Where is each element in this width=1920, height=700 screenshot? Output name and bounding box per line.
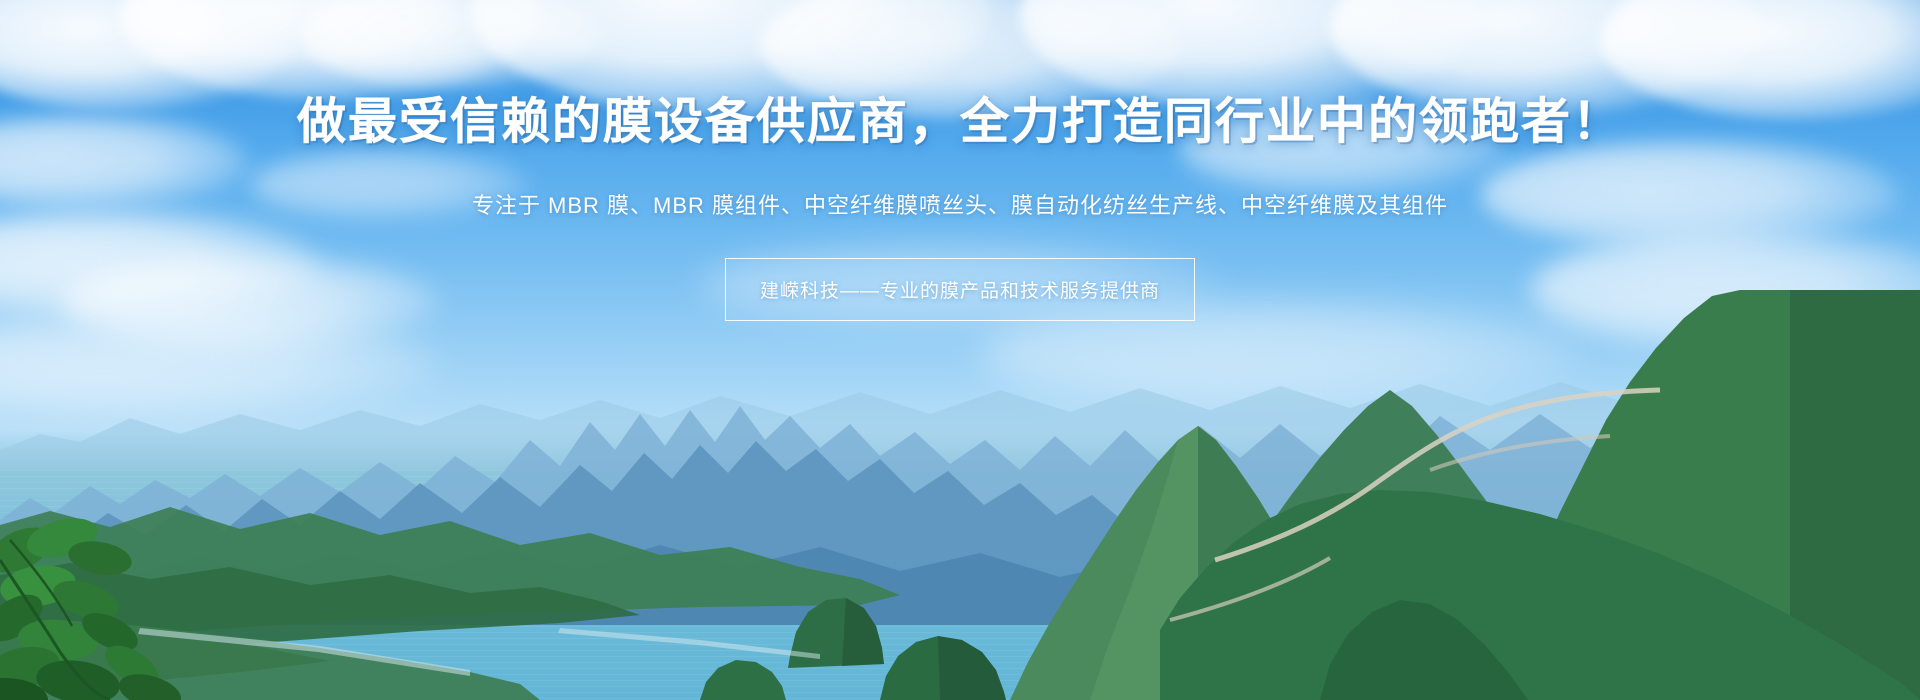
cloud-icon [1020,0,1480,110]
hero-text-block: 做最受信赖的膜设备供应商，全力打造同行业中的领跑者！ 专注于 MBR 膜、MBR… [0,96,1920,321]
banner-headline: 做最受信赖的膜设备供应商，全力打造同行业中的领跑者！ [0,96,1920,149]
cloud-icon [0,0,300,110]
tagline-container: 建嵘科技——专业的膜产品和技术服务提供商 [0,258,1920,321]
banner-subline: 专注于 MBR 膜、MBR 膜组件、中空纤维膜喷丝头、膜自动化纺丝生产线、中空纤… [0,189,1920,222]
banner-tagline-box: 建嵘科技——专业的膜产品和技术服务提供商 [725,258,1195,321]
cloud-icon [120,0,540,100]
hero-banner: 做最受信赖的膜设备供应商，全力打造同行业中的领跑者！ 专注于 MBR 膜、MBR… [0,0,1920,700]
foreground-foliage [0,400,230,700]
lake-water [0,430,1920,700]
leaf-cluster [0,511,185,700]
cloud-icon [300,0,600,90]
